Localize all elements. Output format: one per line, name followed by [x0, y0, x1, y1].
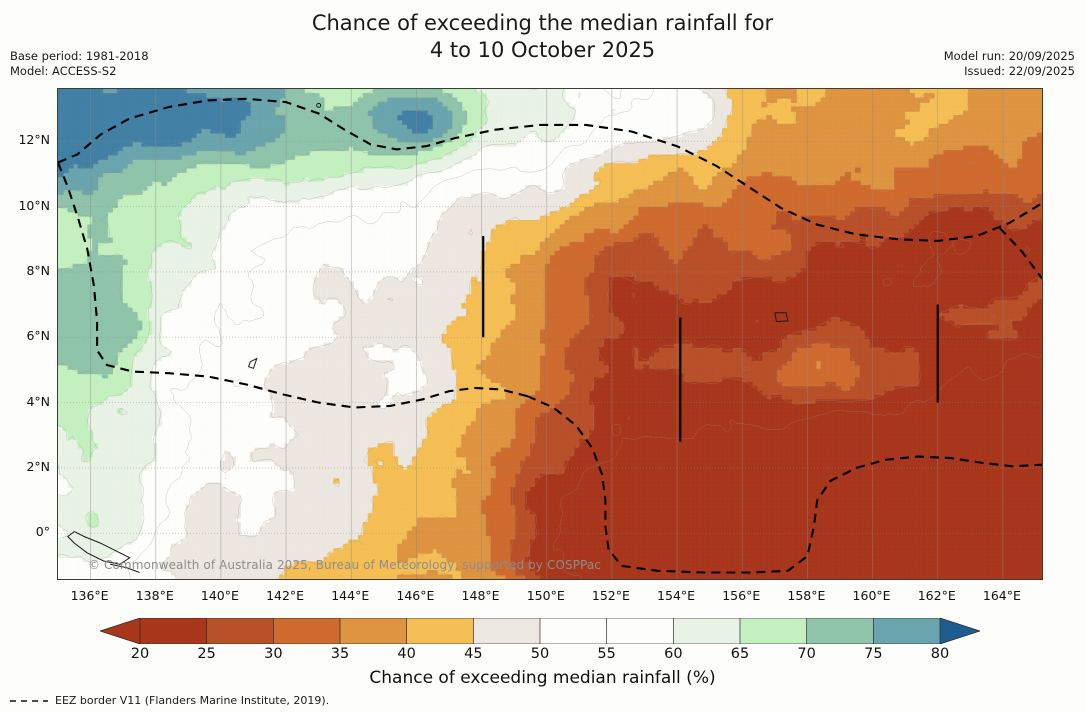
- colorbar-extend-low: [100, 618, 140, 644]
- colorbar-segment: [540, 618, 607, 644]
- colorbar-tick-label: 55: [582, 646, 632, 662]
- colorbar-segment: [273, 618, 340, 644]
- y-tick-label: 4°N: [2, 394, 50, 409]
- base-period-text: Base period: 1981-2018: [10, 49, 149, 64]
- colorbar-tick-label: 80: [915, 646, 965, 662]
- x-tick-label: 146°E: [385, 588, 445, 603]
- figure-title: Chance of exceeding the median rainfall …: [0, 10, 1085, 64]
- colorbar-tick-label: 25: [182, 646, 232, 662]
- colorbar-segment: [673, 618, 740, 644]
- issued-text: Issued: 22/09/2025: [944, 64, 1075, 79]
- colorbar-extend-high: [940, 618, 980, 644]
- metadata-right: Model run: 20/09/2025 Issued: 22/09/2025: [944, 49, 1075, 79]
- x-tick-label: 152°E: [581, 588, 641, 603]
- model-run-text: Model run: 20/09/2025: [944, 49, 1075, 64]
- x-tick-label: 136°E: [60, 588, 120, 603]
- x-tick-label: 148°E: [451, 588, 511, 603]
- x-tick-label: 156°E: [711, 588, 771, 603]
- colorbar-segment: [207, 618, 274, 644]
- y-tick-label: 12°N: [2, 132, 50, 147]
- x-tick-label: 162°E: [907, 588, 967, 603]
- colorbar-segment: [473, 618, 540, 644]
- metadata-left: Base period: 1981-2018 Model: ACCESS-S2: [10, 49, 149, 79]
- map-plot-area: [57, 88, 1043, 580]
- colorbar-tick-label: 20: [115, 646, 165, 662]
- title-line-2: 4 to 10 October 2025: [0, 37, 1085, 64]
- y-tick-label: 0°: [2, 524, 50, 539]
- colorbar-tick-label: 45: [448, 646, 498, 662]
- y-tick-label: 6°N: [2, 328, 50, 343]
- x-tick-label: 138°E: [125, 588, 185, 603]
- x-tick-label: 160°E: [842, 588, 902, 603]
- colorbar-segment: [407, 618, 474, 644]
- x-tick-label: 154°E: [646, 588, 706, 603]
- y-tick-label: 2°N: [2, 459, 50, 474]
- colorbar-title: Chance of exceeding median rainfall (%): [0, 668, 1085, 688]
- colorbar-tick-label: 60: [648, 646, 698, 662]
- copyright-watermark: © Commonwealth of Australia 2025, Bureau…: [88, 558, 601, 572]
- x-tick-label: 142°E: [255, 588, 315, 603]
- colorbar-tick-label: 30: [248, 646, 298, 662]
- colorbar: [100, 618, 980, 644]
- colorbar-segment: [140, 618, 207, 644]
- x-tick-label: 140°E: [190, 588, 250, 603]
- x-tick-label: 164°E: [972, 588, 1032, 603]
- colorbar-tick-label: 50: [515, 646, 565, 662]
- model-text: Model: ACCESS-S2: [10, 64, 149, 79]
- figure-canvas: Chance of exceeding the median rainfall …: [0, 0, 1085, 713]
- colorbar-segment: [873, 618, 940, 644]
- y-tick-label: 8°N: [2, 263, 50, 278]
- colorbar-segment: [340, 618, 407, 644]
- footer-legend: EEZ border V11 (Flanders Marine Institut…: [8, 694, 329, 707]
- colorbar-tick-label: 65: [715, 646, 765, 662]
- colorbar-segment: [807, 618, 874, 644]
- x-tick-label: 158°E: [776, 588, 836, 603]
- x-tick-label: 150°E: [516, 588, 576, 603]
- colorbar-tick-label: 70: [782, 646, 832, 662]
- dashed-line-icon: [8, 696, 50, 706]
- colorbar-tick-label: 35: [315, 646, 365, 662]
- footer-legend-text: EEZ border V11 (Flanders Marine Institut…: [55, 694, 329, 707]
- colorbar-tick-label: 40: [382, 646, 432, 662]
- colorbar-tick-label: 75: [848, 646, 898, 662]
- x-tick-label: 144°E: [320, 588, 380, 603]
- colorbar-segment: [740, 618, 807, 644]
- title-line-1: Chance of exceeding the median rainfall …: [0, 10, 1085, 37]
- y-tick-label: 10°N: [2, 198, 50, 213]
- colorbar-segment: [607, 618, 674, 644]
